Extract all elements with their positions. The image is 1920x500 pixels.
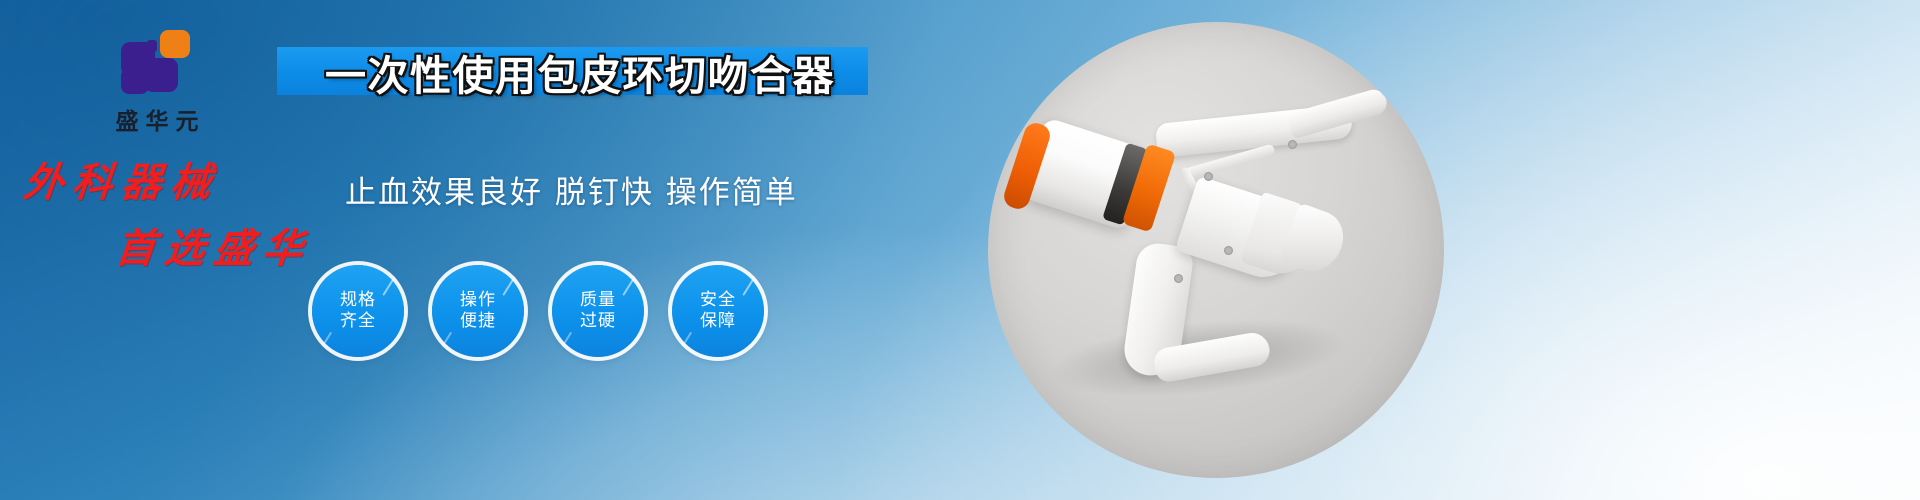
product-photo bbox=[988, 22, 1444, 478]
product-pivot-1 bbox=[1204, 172, 1213, 181]
feature-badge-2-line-1: 操作 bbox=[460, 290, 496, 311]
feature-badge-2[interactable]: 操作 便捷 bbox=[432, 265, 524, 357]
feature-badge-4[interactable]: 安全 保障 bbox=[672, 265, 764, 357]
calligraphy-line-1: 外科器械 bbox=[21, 150, 351, 208]
feature-badge-1-line-1: 规格 bbox=[340, 290, 376, 311]
calligraphy-slogan: 外科器械 首选盛华 bbox=[18, 150, 348, 274]
shenghuayuan-blocks-logo-icon bbox=[121, 30, 193, 96]
brand-logo[interactable]: 盛华元 bbox=[72, 30, 242, 136]
feature-badge-2-line-2: 便捷 bbox=[460, 311, 496, 332]
product-pivot-4 bbox=[1174, 274, 1183, 283]
feature-badge-list: 规格 齐全 操作 便捷 质量 过硬 安全 保障 bbox=[312, 265, 764, 357]
page-title: 一次性使用包皮环切吻合器 bbox=[290, 44, 870, 100]
product-pivot-2 bbox=[1224, 246, 1233, 255]
feature-badge-3[interactable]: 质量 过硬 bbox=[552, 265, 644, 357]
feature-badge-4-line-2: 保障 bbox=[700, 311, 736, 332]
product-pivot-3 bbox=[1288, 140, 1297, 149]
feature-badge-3-line-1: 质量 bbox=[580, 290, 616, 311]
brand-name: 盛华元 bbox=[72, 102, 242, 136]
feature-badge-3-line-2: 过硬 bbox=[580, 311, 616, 332]
feature-badge-1[interactable]: 规格 齐全 bbox=[312, 265, 404, 357]
feature-badge-4-line-1: 安全 bbox=[700, 290, 736, 311]
feature-badge-1-line-2: 齐全 bbox=[340, 311, 376, 332]
subtitle: 止血效果良好 脱钉快 操作简单 bbox=[345, 167, 798, 212]
